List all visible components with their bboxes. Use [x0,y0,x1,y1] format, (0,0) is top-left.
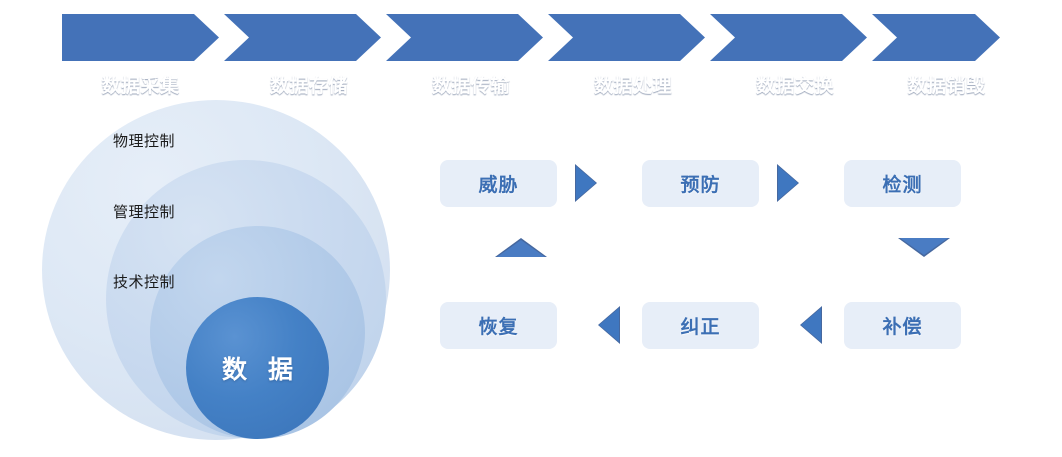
chevron-stage-3-label: 数据传输 [399,61,543,108]
cycle-node-prevent[interactable]: 预防 [642,160,759,207]
circle-data-core[interactable]: 数 据 [186,297,329,439]
chevron-stage-2[interactable] [224,14,381,61]
arrow-right-icon-prevent-to-detect [777,164,799,202]
cycle-node-detect[interactable]: 检测 [844,160,961,207]
chevron-stage-1[interactable] [62,14,219,61]
cycle-node-compensate[interactable]: 补偿 [844,302,961,349]
chevron-stage-6[interactable] [872,14,1000,61]
cycle-node-recover[interactable]: 恢复 [440,302,557,349]
label-management-control: 管理控制 [113,201,175,222]
lifecycle-chevron-shapes [62,14,1000,61]
label-physical-control: 物理控制 [113,130,175,151]
arrow-left-icon-compensate-to-correct [800,306,822,344]
label-technical-control: 技术控制 [113,271,175,292]
security-response-cycle-diagram: 威胁 预防 检测 补偿 纠正 恢复 [430,150,990,370]
chevron-stage-4[interactable] [548,14,705,61]
circle-data-core-label: 数 据 [215,350,300,386]
arrow-left-icon-correct-to-recover [598,306,620,344]
cycle-node-threat[interactable]: 威胁 [440,160,557,207]
chevron-stage-4-label: 数据处理 [561,61,705,108]
arrow-up-icon-recover-to-threat [495,238,547,257]
chevron-stage-5-label: 数据交换 [723,61,867,108]
chevron-stage-6-label: 数据销毁 [885,61,1008,108]
chevron-stage-3[interactable] [386,14,543,61]
cycle-node-correct[interactable]: 纠正 [642,302,759,349]
arrow-down-icon-detect-to-compensate [898,238,950,257]
arrow-right-icon-threat-to-prevent [575,164,597,202]
nested-control-layers-diagram: 数 据 物理控制 管理控制 技术控制 [40,98,395,443]
data-lifecycle-banner: 数据采集 数据存储 数据传输 数据处理 数据交换 数据销毁 [62,14,1000,61]
chevron-stage-5[interactable] [710,14,867,61]
